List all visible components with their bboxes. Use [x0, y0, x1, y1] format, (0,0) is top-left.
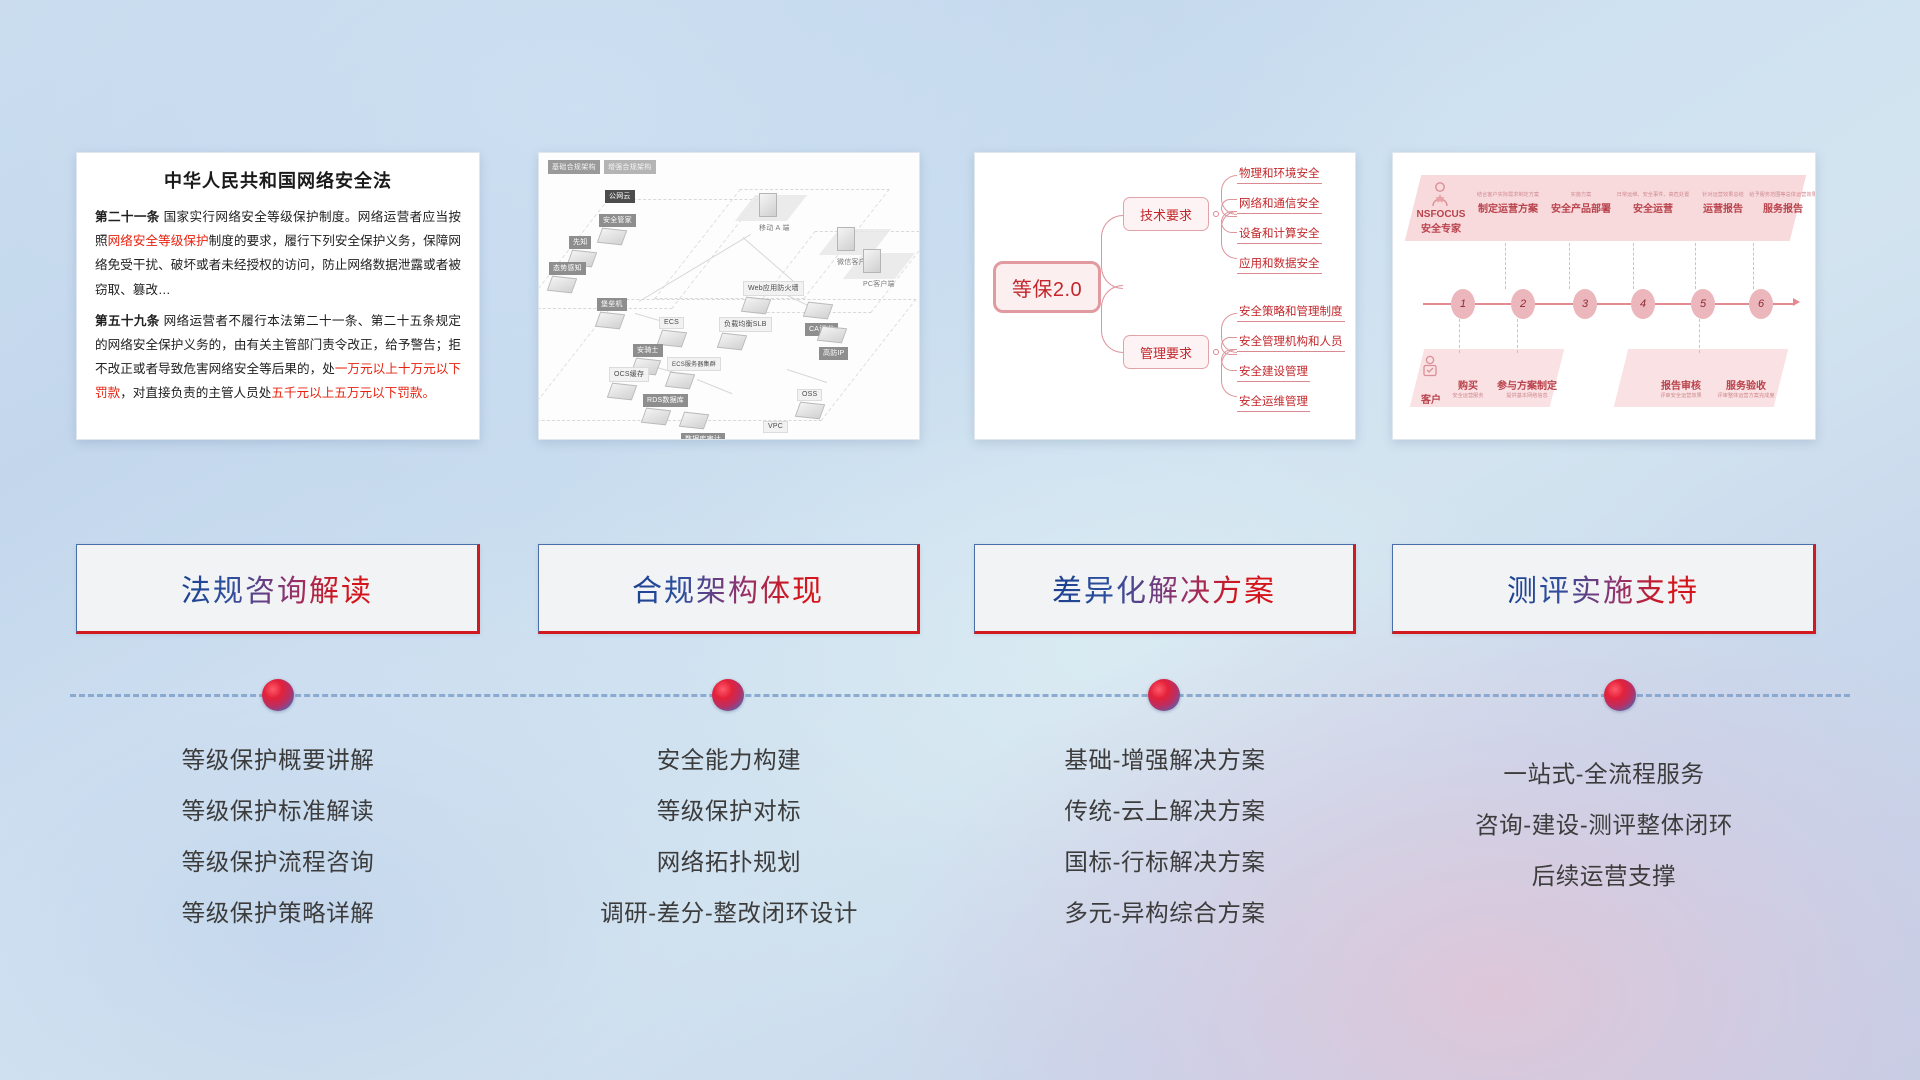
timeline-dash-bottom-1 — [1459, 319, 1460, 353]
icon-server-block — [803, 302, 833, 320]
list-item: 多元-异构综合方案 — [974, 888, 1356, 939]
brand-name: NSFOCUS — [1413, 209, 1469, 220]
node-public-cloud[interactable]: 公网云 — [605, 185, 635, 203]
icon-server-block — [795, 402, 825, 420]
timeline-dash-top-6 — [1753, 243, 1754, 289]
timeline-step-top-3[interactable]: 日常运维、安全事件、高危处置 安全运营 — [1611, 191, 1695, 215]
detail-list-4: 一站式-全流程服务 咨询-建设-测评整体闭环 后续运营支撑 — [1392, 735, 1816, 902]
node-pc-client[interactable]: PC客户端 — [863, 247, 895, 291]
section-title-box-4[interactable]: 测评实施支持 — [1392, 544, 1816, 634]
article-number-21: 第二十一条 — [95, 210, 160, 224]
mindmap-curve-tech — [1101, 215, 1123, 289]
timeline-node-1[interactable] — [262, 679, 294, 711]
list-item: 网络拓扑规划 — [538, 837, 920, 888]
timeline-marker-3[interactable]: 3 — [1573, 289, 1597, 319]
list-item: 等级保护标准解读 — [76, 786, 480, 837]
section-title-label-4: 测评实施支持 — [1507, 566, 1699, 610]
timeline-dash-top-2 — [1505, 243, 1506, 289]
icon-server-block — [595, 312, 625, 330]
list-item: 传统-云上解决方案 — [974, 786, 1356, 837]
list-item: 等级保护流程咨询 — [76, 837, 480, 888]
timeline-step-bottom-3[interactable]: 报告审核 评审安全运营效果 — [1651, 377, 1711, 401]
icon-server-block — [665, 372, 695, 390]
section-title-box-1[interactable]: 法规咨询解读 — [76, 544, 480, 634]
node-vpc[interactable]: VPC — [763, 415, 788, 433]
mindmap-collapse-dot-management[interactable] — [1213, 349, 1219, 355]
detail-list-3: 基础-增强解决方案 传统-云上解决方案 国标-行标解决方案 多元-异构综合方案 — [974, 735, 1356, 939]
timeline-step-bottom-1[interactable]: 购买 安全运营服务 — [1445, 377, 1491, 401]
timeline-node-2[interactable] — [712, 679, 744, 711]
article-number-59: 第五十九条 — [95, 314, 160, 328]
mindmap-leaf-application[interactable]: 应用和数据安全 — [1237, 255, 1322, 274]
article-21-seg-1: 网络安全等级保护 — [108, 234, 209, 248]
card-service-timeline[interactable]: NSFOCUS 安全专家 结合客户实际需求制定方案 制定运营方案 实施方案 安全… — [1392, 152, 1816, 440]
list-item: 等级保护概要讲解 — [76, 735, 480, 786]
detail-list-1: 等级保护概要讲解 等级保护标准解读 等级保护流程咨询 等级保护策略详解 — [76, 735, 480, 939]
list-item: 安全能力构建 — [538, 735, 920, 786]
architecture-diagram: 基础合规架构 增强合规架构 — [539, 153, 919, 439]
mindmap-curve-mgmt — [1101, 285, 1123, 353]
timeline-marker-6[interactable]: 6 — [1749, 289, 1773, 319]
node-situational-awareness[interactable]: 态势感知 — [549, 257, 586, 292]
mindmap-collapse-dot-technical[interactable] — [1213, 211, 1219, 217]
timeline-dash-bottom-2 — [1517, 319, 1518, 353]
card-cloud-architecture[interactable]: 基础合规架构 增强合规架构 — [538, 152, 920, 440]
node-database-audit[interactable]: 数据库审计 — [681, 411, 725, 440]
mindmap-branch-technical[interactable]: 技术要求 — [1123, 197, 1209, 231]
architecture-tabs: 基础合规架构 增强合规架构 — [548, 160, 656, 174]
node-ecs[interactable]: ECS — [659, 311, 685, 346]
mindmap-root-node[interactable]: 等保2.0 — [993, 261, 1101, 313]
list-item: 国标-行标解决方案 — [974, 837, 1356, 888]
node-mobile-client[interactable]: 移动 A 端 — [759, 191, 790, 235]
list-item: 基础-增强解决方案 — [974, 735, 1356, 786]
section-title-row: 法规咨询解读 合规架构体现 差异化解决方案 测评实施支持 — [0, 544, 1920, 644]
timeline-step-bottom-4[interactable]: 服务验收 评审整体运营方案完成度 — [1713, 377, 1779, 401]
node-anti-ddos-ip[interactable]: 高防IP — [819, 325, 848, 360]
list-item: 后续运营支撑 — [1392, 851, 1816, 902]
mindmap-leaf-policy[interactable]: 安全策略和管理制度 — [1237, 303, 1345, 322]
law-content: 中华人民共和国网络安全法 第二十一条 国家实行网络安全等级保护制度。网络运营者应… — [77, 153, 479, 422]
section-title-label-3: 差异化解决方案 — [1052, 566, 1276, 610]
section-title-box-3[interactable]: 差异化解决方案 — [974, 544, 1356, 634]
timeline-arrow-icon — [1793, 298, 1800, 306]
mindmap-branch-management[interactable]: 管理要求 — [1123, 335, 1209, 369]
list-item: 等级保护对标 — [538, 786, 920, 837]
timeline-marker-2[interactable]: 2 — [1511, 289, 1535, 319]
timeline-dash-top-4 — [1633, 243, 1634, 289]
timeline-node-4[interactable] — [1604, 679, 1636, 711]
timeline-dash-bottom-5 — [1699, 319, 1700, 353]
timeline-brand: NSFOCUS 安全专家 — [1413, 209, 1469, 235]
detail-list-row: 等级保护概要讲解 等级保护标准解读 等级保护流程咨询 等级保护策略详解 安全能力… — [0, 735, 1920, 965]
node-ecs-cluster[interactable]: ECS服务器集群 — [667, 353, 721, 388]
node-security-butler[interactable]: 安全管家 — [599, 209, 636, 244]
service-timeline: NSFOCUS 安全专家 结合客户实际需求制定方案 制定运营方案 实施方案 安全… — [1393, 153, 1815, 439]
node-waf[interactable]: Web应用防火墙 — [743, 277, 804, 313]
expert-person-icon — [1429, 181, 1451, 212]
timeline-marker-5[interactable]: 5 — [1691, 289, 1715, 319]
mindmap-curve-m4 — [1221, 349, 1237, 397]
icon-server-block — [607, 382, 637, 400]
timeline-strip — [0, 672, 1920, 718]
screenshot-card-row: 中华人民共和国网络安全法 第二十一条 国家实行网络安全等级保护制度。网络运营者应… — [0, 0, 1920, 470]
icon-server-block — [817, 326, 847, 344]
mindmap-leaf-device[interactable]: 设备和计算安全 — [1237, 225, 1322, 244]
law-paragraph-59: 第五十九条 网络运营者不履行本法第二十一条、第二十五条规定的网络安全保护义务的，… — [95, 309, 461, 406]
list-item: 一站式-全流程服务 — [1392, 749, 1816, 800]
law-paragraph-21: 第二十一条 国家实行网络安全等级保护制度。网络运营者应当按照网络安全等级保护制度… — [95, 205, 461, 302]
icon-server-block — [717, 332, 747, 350]
mindmap-leaf-physical[interactable]: 物理和环境安全 — [1237, 165, 1322, 184]
detail-list-2: 安全能力构建 等级保护对标 网络拓扑规划 调研-差分-整改闭环设计 — [538, 735, 920, 939]
tab-enhanced-framework[interactable]: 增强合规架构 — [604, 160, 656, 174]
node-slb[interactable]: 负载均衡SLB — [719, 313, 772, 349]
article-59-seg-3: 五千元以上五万元以下罚款。 — [271, 386, 435, 400]
timeline-step-bottom-2[interactable]: 参与方案制定 提供基本网络信息 — [1491, 377, 1563, 401]
timeline-customer-label: 客户 — [1415, 391, 1447, 406]
icon-server-block — [597, 228, 627, 246]
timeline-step-top-1[interactable]: 结合客户实际需求制定方案 制定运营方案 — [1469, 191, 1547, 215]
icon-server-block — [679, 412, 709, 430]
brand-role: 安全专家 — [1413, 220, 1469, 235]
timeline-marker-4[interactable]: 4 — [1631, 289, 1655, 319]
timeline-axis — [1423, 303, 1795, 305]
section-title-box-2[interactable]: 合规架构体现 — [538, 544, 920, 634]
icon-server-block — [641, 408, 671, 426]
mindmap-leaf-construction[interactable]: 安全建设管理 — [1237, 363, 1310, 382]
customer-person-icon — [1421, 355, 1439, 384]
list-item: 咨询-建设-测评整体闭环 — [1392, 800, 1816, 851]
timeline-node-3[interactable] — [1148, 679, 1180, 711]
timeline-dash-top-3 — [1569, 243, 1570, 289]
law-title: 中华人民共和国网络安全法 — [95, 167, 461, 193]
card-mindmap-dengbao[interactable]: 等保2.0 技术要求 物理和环境安全 网络和通信安全 设备和计算安全 应用和数据… — [974, 152, 1356, 440]
timeline-dash-top-5 — [1695, 243, 1696, 289]
card-cybersecurity-law[interactable]: 中华人民共和国网络安全法 第二十一条 国家实行网络安全等级保护制度。网络运营者应… — [76, 152, 480, 440]
icon-server-block — [547, 276, 577, 294]
architecture-canvas: 公网云 安全管家 先知 态势感知 堡垒机 移动 A 端 Web应 — [547, 173, 911, 431]
timeline-marker-1[interactable]: 1 — [1451, 289, 1475, 319]
mindmap-leaf-operation[interactable]: 安全运维管理 — [1237, 393, 1310, 412]
section-title-label-2: 合规架构体现 — [632, 566, 824, 610]
icon-device — [759, 193, 777, 217]
section-title-label-1: 法规咨询解读 — [181, 566, 373, 610]
icon-server-block — [741, 296, 771, 314]
icon-device — [863, 249, 881, 273]
article-59-seg-2: ，对直接负责的主管人员处 — [120, 386, 271, 400]
mindmap-leaf-network[interactable]: 网络和通信安全 — [1237, 195, 1322, 214]
timeline-step-top-2[interactable]: 实施方案 安全产品部署 — [1543, 191, 1619, 215]
mindmap-curve-t4 — [1221, 211, 1237, 259]
list-item: 等级保护策略详解 — [76, 888, 480, 939]
timeline-step-top-5[interactable]: 给予服务范围等总体运营效果 服务报告 — [1745, 191, 1816, 215]
timeline-dashed-line — [70, 694, 1850, 697]
tab-basic-framework[interactable]: 基础合规架构 — [548, 160, 600, 174]
node-oss[interactable]: OSS — [797, 383, 823, 418]
mindmap: 等保2.0 技术要求 物理和环境安全 网络和通信安全 设备和计算安全 应用和数据… — [975, 153, 1355, 439]
mindmap-leaf-org[interactable]: 安全管理机构和人员 — [1237, 333, 1345, 352]
list-item: 调研-差分-整改闭环设计 — [538, 888, 920, 939]
icon-device — [837, 227, 855, 251]
node-bastion-host[interactable]: 堡垒机 — [597, 293, 627, 328]
